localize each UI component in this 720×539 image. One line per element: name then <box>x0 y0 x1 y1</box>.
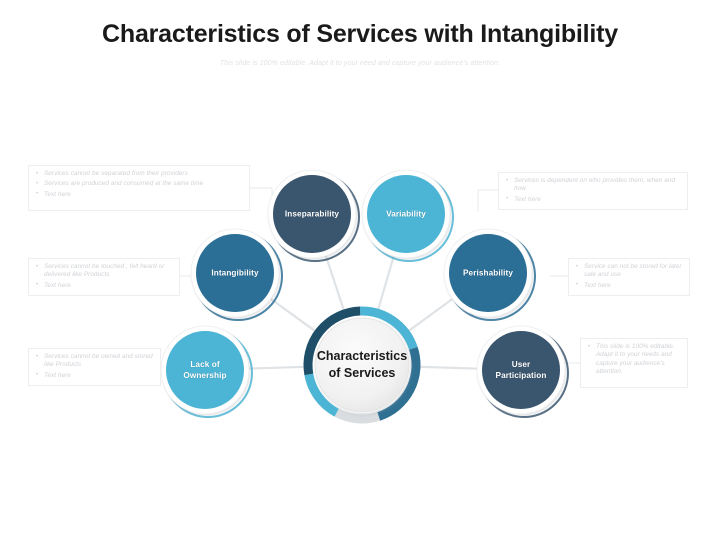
callout-list: Services cannot be touched , felt heard … <box>35 263 173 290</box>
node-disc[interactable] <box>196 234 274 312</box>
node-disc[interactable] <box>449 234 527 312</box>
callout-item: Services are produced and consumed at th… <box>35 180 243 188</box>
callout-item: This slide is 100% editable. Adapt it to… <box>587 343 681 377</box>
leader-variability <box>478 190 498 212</box>
node-disc[interactable] <box>166 331 244 409</box>
center-disc <box>314 317 410 413</box>
callout-list: Service can not be stored for later sale… <box>575 263 683 290</box>
node-disc[interactable] <box>367 175 445 253</box>
callout-item: Text here <box>505 196 681 204</box>
callout-item: Services is dependent on who provides th… <box>505 177 681 194</box>
callout-list: Services cannot be separated from their … <box>35 170 243 199</box>
node-intangibility[interactable] <box>191 229 282 320</box>
node-disc[interactable] <box>482 331 560 409</box>
node-inseparability[interactable] <box>268 170 359 261</box>
callout-list: This slide is 100% editable. Adapt it to… <box>587 343 681 377</box>
callout-item: Text here <box>35 372 154 380</box>
spoke-variability <box>378 254 394 310</box>
intangibility-callout: Services cannot be touched , felt heard … <box>28 258 180 296</box>
spoke-intangibility <box>269 298 316 332</box>
spoke-user-participation <box>419 367 479 369</box>
spoke-lack-of-ownership <box>247 367 305 369</box>
user-participation-callout: This slide is 100% editable. Adapt it to… <box>580 338 688 388</box>
node-user-participation[interactable] <box>477 326 568 417</box>
callout-item: Text here <box>575 282 683 290</box>
callout-item: Text here <box>35 191 243 199</box>
perishability-callout: Service can not be stored for later sale… <box>568 258 690 296</box>
callout-item: Text here <box>35 282 173 290</box>
variability-callout: Services is dependent on who provides th… <box>498 172 688 210</box>
callout-item: Service can not be stored for later sale… <box>575 263 683 280</box>
callout-list: Services cannot be owned and stored like… <box>35 353 154 380</box>
node-lack-of-ownership[interactable] <box>161 326 252 417</box>
node-perishability[interactable] <box>444 229 535 320</box>
inseparability-callout: Services cannot be separated from their … <box>28 165 250 211</box>
node-disc[interactable] <box>273 175 351 253</box>
node-variability[interactable] <box>362 170 453 261</box>
callout-item: Services cannot be separated from their … <box>35 170 243 178</box>
callout-item: Services cannot be touched , felt heard … <box>35 263 173 280</box>
spoke-perishability <box>408 298 454 332</box>
callout-list: Services is dependent on who provides th… <box>505 177 681 204</box>
slide-canvas: Characteristics of Services with Intangi… <box>0 0 720 539</box>
callout-item: Services cannot be owned and stored like… <box>35 353 154 370</box>
lack-of-ownership-callout: Services cannot be owned and stored like… <box>28 348 161 386</box>
ring-segment-2 <box>337 413 379 419</box>
spoke-inseparability <box>325 254 344 311</box>
